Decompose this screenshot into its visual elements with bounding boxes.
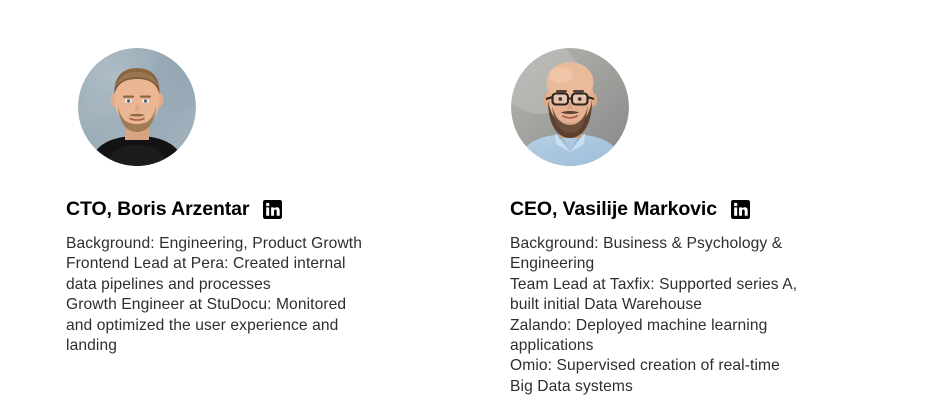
bio-line: landing (66, 336, 411, 356)
bio-line: Growth Engineer at StuDocu: Monitored (66, 295, 411, 315)
bio-line: Omio: Supervised creation of real-time (510, 356, 862, 376)
profile-name-ceo: CEO, Vasilije Markovic (510, 197, 717, 221)
bio-line: data pipelines and processes (66, 275, 411, 295)
bio-line: Background: Business & Psychology & (510, 234, 862, 254)
profile-name-row-ceo: CEO, Vasilije Markovic (510, 197, 750, 221)
bio-line: built initial Data Warehouse (510, 295, 862, 315)
bio-line: Big Data systems (510, 377, 862, 397)
profile-name-row-cto: CTO, Boris Arzentar (66, 197, 282, 221)
team-profiles-section: CTO, Boris Arzentar Background: Engineer… (0, 0, 948, 412)
bio-line: applications (510, 336, 862, 356)
bio-line: Team Lead at Taxfix: Supported series A, (510, 275, 862, 295)
bio-line: Background: Engineering, Product Growth (66, 234, 411, 254)
bio-line: and optimized the user experience and (66, 316, 411, 336)
bio-line: Frontend Lead at Pera: Created internal (66, 254, 411, 274)
linkedin-icon[interactable] (731, 200, 750, 219)
profile-bio-ceo: Background: Business & Psychology & Engi… (510, 234, 862, 397)
avatar-photo-boris-arzentar (78, 48, 196, 166)
bio-line: Zalando: Deployed machine learning (510, 316, 862, 336)
avatar-photo-vasilije-markovic (511, 48, 629, 166)
profile-bio-cto: Background: Engineering, Product Growth … (66, 234, 411, 356)
bio-line: Engineering (510, 254, 862, 274)
linkedin-icon[interactable] (263, 200, 282, 219)
profile-name-cto: CTO, Boris Arzentar (66, 197, 249, 221)
